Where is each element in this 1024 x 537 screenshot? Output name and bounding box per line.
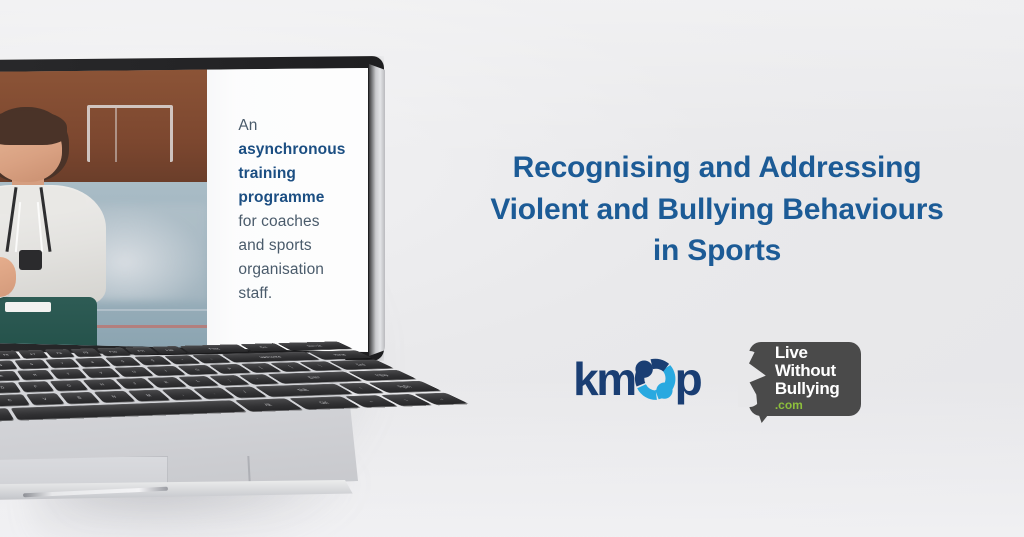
lwb-line-2: Without bbox=[775, 362, 861, 380]
poster-canvas: An asynchronous training programme for c… bbox=[0, 0, 1024, 537]
key-f8[interactable]: F8 bbox=[44, 349, 75, 357]
key-g[interactable]: G bbox=[50, 380, 89, 391]
speech-bubble-face-icon: Live Without Bullying .com bbox=[749, 342, 861, 416]
key-6[interactable]: 6 bbox=[15, 360, 49, 369]
key-r[interactable]: R bbox=[16, 370, 54, 380]
key-t[interactable]: T bbox=[49, 369, 87, 379]
kmop-logo[interactable]: km p bbox=[573, 350, 700, 408]
key-f[interactable]: F bbox=[17, 381, 54, 392]
kmop-circular-mark bbox=[625, 350, 683, 408]
logo-row: km p bbox=[410, 342, 1024, 416]
screen-headline: An asynchronous training programme for c… bbox=[238, 114, 350, 306]
key-enter[interactable]: Enter bbox=[267, 372, 362, 384]
screen-headline-line4: organisation staff. bbox=[238, 261, 324, 302]
laptop-lid-edge bbox=[369, 61, 385, 356]
key-num-lk[interactable]: Num Lk bbox=[277, 341, 353, 350]
coach-photo bbox=[0, 68, 207, 352]
live-without-bullying-logo[interactable]: ‘ Live Without Bullying .com bbox=[736, 342, 861, 416]
key-8[interactable]: 8 bbox=[75, 358, 111, 367]
key-f7[interactable]: F7 bbox=[18, 350, 48, 359]
key-c[interactable]: C bbox=[0, 394, 29, 406]
right-content: Recognising and Addressing Violent and B… bbox=[410, 0, 1024, 537]
page-title: Recognising and Addressing Violent and B… bbox=[410, 147, 1024, 272]
lwb-domain: .com bbox=[775, 398, 861, 414]
coach-whistle bbox=[19, 250, 42, 270]
key-v[interactable]: V bbox=[25, 393, 64, 405]
lwb-line-1: Live bbox=[775, 344, 861, 362]
coach-hair-top bbox=[0, 110, 67, 145]
page-title-line-2: Violent and Bullying Behaviours bbox=[410, 189, 1024, 231]
screen-text-panel: An asynchronous training programme for c… bbox=[207, 68, 368, 352]
laptop-base: escF1F2F3F4F5F6F7F8F9F10F11F12PrtScDelNu… bbox=[0, 352, 358, 527]
screen-headline-bold-1: asynchronous bbox=[238, 141, 345, 158]
coach-waist-tie bbox=[5, 302, 51, 312]
key-b[interactable]: B bbox=[59, 392, 99, 404]
key-prtsc[interactable]: PrtSc bbox=[179, 344, 249, 353]
laptop-screen: An asynchronous training programme for c… bbox=[0, 68, 368, 352]
key-e[interactable]: E bbox=[0, 371, 20, 381]
key-backspace[interactable]: Backspace bbox=[221, 352, 320, 363]
key-7[interactable]: 7 bbox=[45, 359, 80, 368]
screen-headline-line3: for coaches and sports bbox=[238, 213, 319, 254]
screen-headline-bold-2: training programme bbox=[238, 165, 324, 206]
lwb-line-3: Bullying bbox=[775, 380, 861, 398]
coach-figure bbox=[0, 102, 118, 352]
page-title-line-3: in Sports bbox=[410, 230, 1024, 272]
laptop-mockup: An asynchronous training programme for c… bbox=[0, 56, 414, 526]
page-title-line-1: Recognising and Addressing bbox=[410, 147, 1024, 189]
screen-headline-plain: An bbox=[238, 117, 257, 134]
key-shift[interactable]: Shift bbox=[255, 384, 353, 397]
